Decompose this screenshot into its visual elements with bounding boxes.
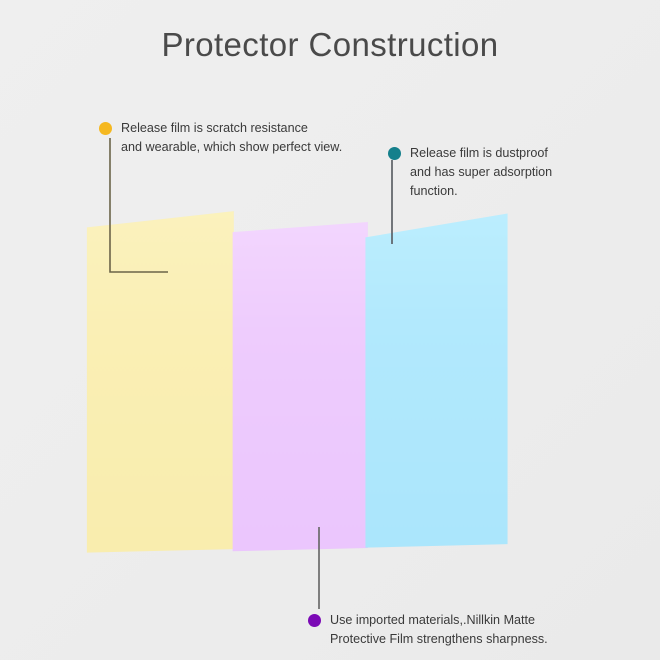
annotation-text-imported-materials: Use imported materials,.Nillkin Matte Pr… bbox=[330, 611, 548, 649]
annotation-text-scratch-resistance: Release film is scratch resistance and w… bbox=[121, 119, 342, 157]
film-layer-pink-surface bbox=[231, 218, 368, 554]
film-layer-yellow-surface bbox=[86, 208, 234, 554]
annotation-imported-materials: Use imported materials,.Nillkin Matte Pr… bbox=[308, 611, 548, 649]
bullet-dot-icon-teal bbox=[388, 147, 401, 160]
page-title: Protector Construction bbox=[0, 26, 660, 64]
annotation-text-dustproof: Release film is dustproof and has super … bbox=[410, 144, 552, 201]
film-layer-blue bbox=[364, 208, 509, 550]
annotation-dustproof: Release film is dustproof and has super … bbox=[388, 144, 552, 201]
film-layer-blue-surface bbox=[364, 208, 509, 550]
bullet-dot-icon-yellow bbox=[99, 122, 112, 135]
bullet-dot-icon-purple bbox=[308, 614, 321, 627]
annotation-scratch-resistance: Release film is scratch resistance and w… bbox=[99, 119, 342, 157]
film-layer-yellow bbox=[86, 208, 234, 554]
diagram-canvas: Protector Construction Release film is s… bbox=[0, 0, 660, 660]
film-layer-pink bbox=[231, 218, 368, 554]
